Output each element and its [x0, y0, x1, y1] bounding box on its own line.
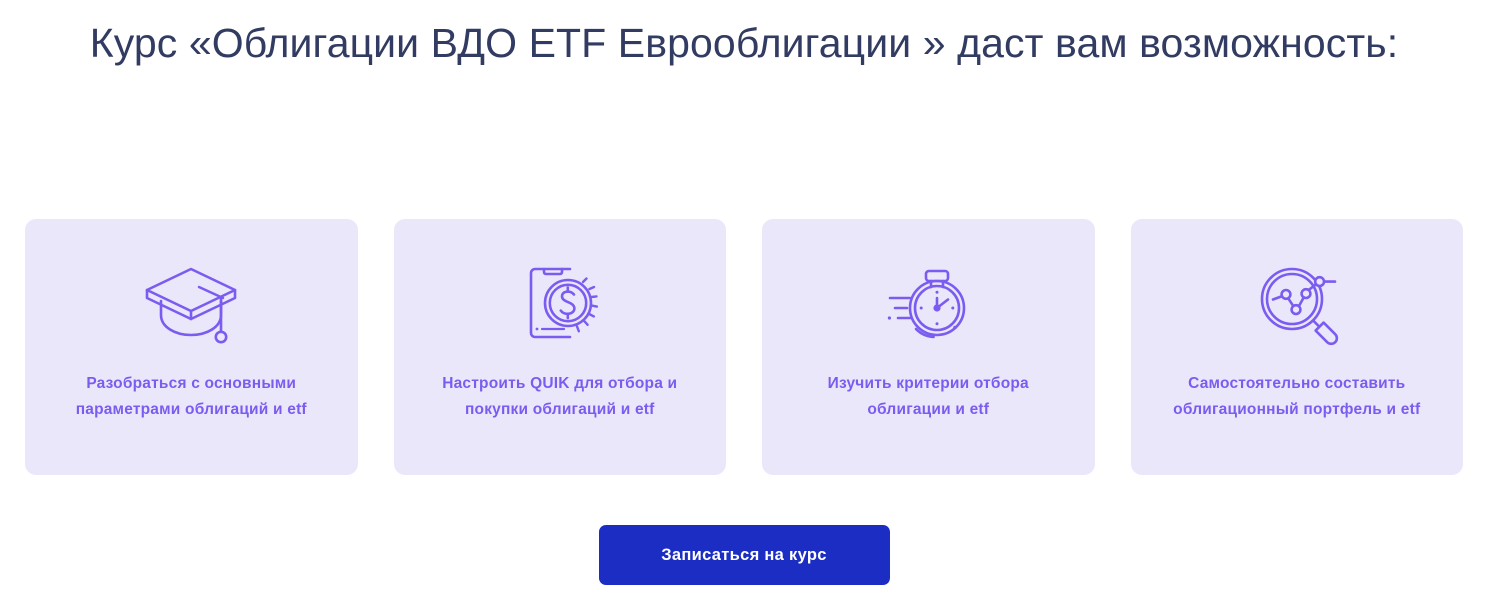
page-title: Курс «Облигации ВДО ETF Еврооблигации » … [0, 14, 1488, 72]
phone-dollar-coin-icon [508, 257, 612, 349]
benefit-card-label: Самостоятельно составить облигационный п… [1154, 371, 1440, 423]
benefit-card-4[interactable]: Самостоятельно составить облигационный п… [1131, 219, 1464, 475]
cta-container: Записаться на курс [0, 525, 1488, 585]
benefit-card-label: Настроить QUIK для отбора и покупки обли… [417, 371, 703, 423]
benefit-card-2[interactable]: Настроить QUIK для отбора и покупки обли… [394, 219, 727, 475]
enroll-button[interactable]: Записаться на курс [599, 525, 890, 585]
graduation-cap-icon [139, 257, 243, 349]
benefit-card-label: Изучить критерии отбора облигации и etf [785, 371, 1071, 423]
benefit-card-1[interactable]: Разобраться с основными параметрами обли… [25, 219, 358, 475]
magnifier-chart-icon [1245, 257, 1349, 349]
benefit-card-3[interactable]: Изучить критерии отбора облигации и etf [762, 219, 1095, 475]
promo-section: Курс «Облигации ВДО ETF Еврооблигации » … [0, 0, 1488, 592]
benefit-card-label: Разобраться с основными параметрами обли… [48, 371, 334, 423]
benefit-cards-row: Разобраться с основными параметрами обли… [25, 219, 1463, 475]
stopwatch-speed-icon [876, 257, 980, 349]
